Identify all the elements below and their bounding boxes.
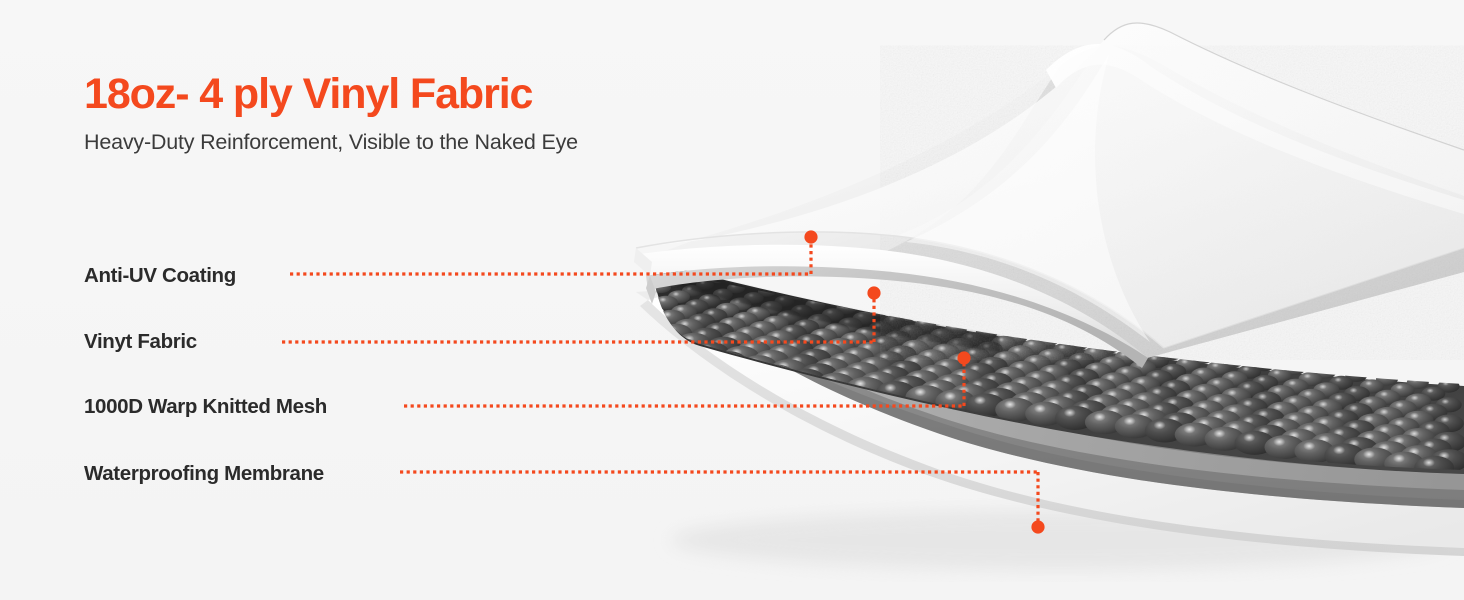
page-title: 18oz- 4 ply Vinyl Fabric (84, 72, 784, 117)
leader-line-0 (290, 230, 818, 274)
callout-label-1000d-warp-knitted-mesh: 1000D Warp Knitted Mesh (84, 395, 327, 419)
leader-endpoint-dot (957, 351, 970, 364)
headline-block: 18oz- 4 ply Vinyl Fabric Heavy-Duty Rein… (84, 72, 784, 155)
leader-endpoint-dot (867, 286, 880, 299)
leader-line-3 (400, 472, 1045, 534)
page-subtitle: Heavy-Duty Reinforcement, Visible to the… (84, 130, 784, 155)
leader-line-2 (404, 351, 971, 406)
leader-endpoint-dot (804, 230, 817, 243)
leader-line-1 (282, 286, 881, 342)
leader-endpoint-dot (1031, 520, 1044, 533)
callout-label-waterproofing-membrane: Waterproofing Membrane (84, 462, 324, 486)
callout-label-vinyt-fabric: Vinyt Fabric (84, 330, 197, 354)
infographic-canvas: 18oz- 4 ply Vinyl Fabric Heavy-Duty Rein… (0, 0, 1464, 600)
callout-label-anti-uv-coating: Anti-UV Coating (84, 264, 236, 288)
